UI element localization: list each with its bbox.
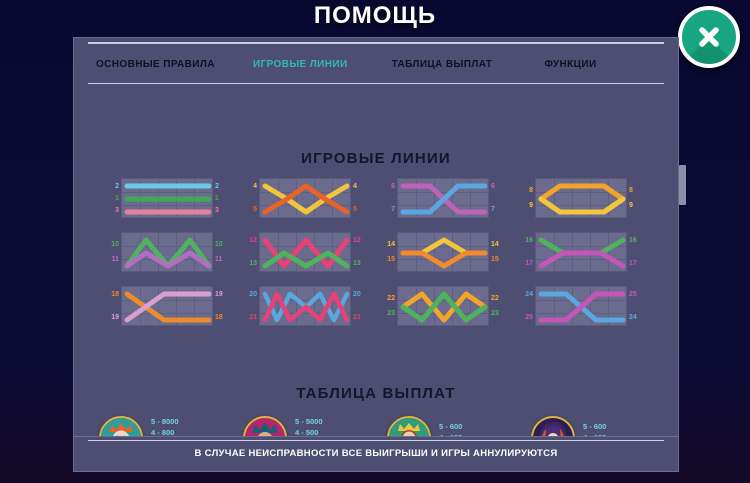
payline-label: 8 xyxy=(629,184,633,197)
payline-labels-left: 20 21 xyxy=(243,286,259,326)
close-button[interactable] xyxy=(678,6,740,68)
payout-row: 5 - 8000 xyxy=(151,417,179,427)
payline-label: 23 xyxy=(491,307,499,320)
tab-bar: ОСНОВНЫЕ ПРАВИЛА ИГРОВЫЕ ЛИНИИ ТАБЛИЦА В… xyxy=(88,48,664,81)
payline-group-16-17: 16 17 16 xyxy=(519,232,647,272)
payline-labels-right: 25 24 xyxy=(627,286,643,326)
paylines-row: 18 19 19 xyxy=(74,286,678,326)
payline-label: 24 xyxy=(525,288,533,301)
payline-group-20-21: 20 21 20 xyxy=(243,286,371,326)
payline-labels-left: 14 15 xyxy=(381,232,397,272)
paytable-heading: ТАБЛИЦА ВЫПЛАТ xyxy=(74,385,678,402)
payline-label: 25 xyxy=(629,288,637,301)
payline-label: 20 xyxy=(249,288,257,301)
payline-label: 6 xyxy=(391,180,395,193)
payline-grid xyxy=(397,178,489,218)
page-title: ПОМОЩЬ xyxy=(0,2,750,30)
payline-labels-right: 12 13 xyxy=(351,232,367,272)
payline-label: 12 xyxy=(353,234,361,247)
payline-labels-right: 16 17 xyxy=(627,232,643,272)
payline-label: 18 xyxy=(215,311,223,324)
payline-label: 14 xyxy=(387,238,395,251)
payline-labels-left: 18 19 xyxy=(105,286,121,326)
payline-labels-left: 10 11 xyxy=(105,232,121,272)
divider-top xyxy=(88,42,664,44)
payline-label: 7 xyxy=(391,203,395,216)
payline-label: 21 xyxy=(249,311,257,324)
payline-group-10-11: 10 11 10 xyxy=(105,232,233,272)
payline-label: 19 xyxy=(215,288,223,301)
payline-label: 17 xyxy=(629,257,637,270)
paylines-row: 2 1 3 xyxy=(74,178,678,218)
payline-group-12-13: 12 13 12 xyxy=(243,232,371,272)
payline-labels-right: 22 23 xyxy=(489,286,505,326)
payline-label: 1 xyxy=(115,192,119,204)
help-panel: ОСНОВНЫЕ ПРАВИЛА ИГРОВЫЕ ЛИНИИ ТАБЛИЦА В… xyxy=(74,38,678,471)
scrollbar-thumb[interactable] xyxy=(679,165,686,205)
payline-label: 7 xyxy=(491,203,495,216)
payline-label: 9 xyxy=(529,199,533,212)
payline-labels-left: 16 17 xyxy=(519,232,535,272)
payline-group-6-7: 6 7 6 xyxy=(381,178,509,218)
payline-label: 4 xyxy=(353,180,357,193)
payline-label: 10 xyxy=(111,238,119,251)
payline-label: 19 xyxy=(111,311,119,324)
payline-label: 9 xyxy=(629,199,633,212)
payline-labels-right: 4 5 xyxy=(351,178,367,218)
payline-label: 10 xyxy=(215,238,223,251)
payline-grid xyxy=(121,286,213,326)
footer-divider xyxy=(88,440,664,441)
payline-label: 5 xyxy=(253,203,257,216)
payline-label: 16 xyxy=(525,234,533,247)
close-button-wrap xyxy=(678,6,740,68)
payline-label: 1 xyxy=(215,192,219,204)
payline-label: 15 xyxy=(491,253,499,266)
payline-labels-right: 6 7 xyxy=(489,178,505,218)
payline-label: 15 xyxy=(387,253,395,266)
close-x-icon xyxy=(694,22,724,52)
payline-labels-right: 8 9 xyxy=(627,178,643,218)
payline-grid xyxy=(397,232,489,272)
payline-label: 4 xyxy=(253,180,257,193)
payline-label: 2 xyxy=(115,180,119,192)
payline-labels-left: 8 9 xyxy=(519,178,535,218)
payline-group-14-15: 14 15 14 xyxy=(381,232,509,272)
payline-group-8-9: 8 9 8 xyxy=(519,178,647,218)
payline-grid xyxy=(259,178,351,218)
payline-labels-right: 19 18 xyxy=(213,286,229,326)
payline-grid xyxy=(121,178,213,218)
payline-grid xyxy=(259,286,351,326)
payline-labels-right: 14 15 xyxy=(489,232,505,272)
payline-label: 20 xyxy=(353,288,361,301)
payline-label: 3 xyxy=(115,204,119,216)
payline-label: 6 xyxy=(491,180,495,193)
payline-labels-right: 20 21 xyxy=(351,286,367,326)
payout-row: 5 - 600 xyxy=(439,422,462,432)
payline-label: 11 xyxy=(112,253,119,266)
malfunction-notice: В СЛУЧАЕ НЕИСПРАВНОСТИ ВСЕ ВЫИГРЫШИ И ИГ… xyxy=(74,448,678,459)
payline-label: 17 xyxy=(525,257,533,270)
payline-label: 2 xyxy=(215,180,219,192)
payline-label: 23 xyxy=(387,307,395,320)
tab-paytable[interactable]: ТАБЛИЦА ВЫПЛАТ xyxy=(392,59,493,70)
payline-label: 3 xyxy=(215,204,219,216)
payline-grid xyxy=(397,286,489,326)
payline-group-24-25: 24 25 25 xyxy=(519,286,647,326)
help-screen: ПОМОЩЬ ОСНОВНЫЕ ПРАВИЛА ИГРОВЫЕ ЛИНИИ ТА… xyxy=(0,0,750,483)
paylines-heading: ИГРОВЫЕ ЛИНИИ xyxy=(74,150,678,167)
tab-features[interactable]: ФУНКЦИИ xyxy=(544,59,596,70)
payline-labels-left: 24 25 xyxy=(519,286,535,326)
payline-grid xyxy=(121,232,213,272)
payline-labels-right: 10 11 xyxy=(213,232,229,272)
payline-group-1-2-3: 2 1 3 xyxy=(105,178,233,218)
payline-label: 11 xyxy=(215,253,222,266)
paylines-area: 2 1 3 xyxy=(74,178,678,340)
tab-basic-rules[interactable]: ОСНОВНЫЕ ПРАВИЛА xyxy=(96,59,215,70)
payline-label: 22 xyxy=(491,292,499,305)
payline-grid xyxy=(535,232,627,272)
payline-label: 22 xyxy=(387,292,395,305)
payline-labels-left: 12 13 xyxy=(243,232,259,272)
payline-grid xyxy=(535,178,627,218)
payline-labels-left: 4 5 xyxy=(243,178,259,218)
payline-label: 25 xyxy=(525,311,533,324)
payline-label: 16 xyxy=(629,234,637,247)
payline-labels-right: 2 1 3 xyxy=(213,178,229,218)
footer-banner: В СЛУЧАЕ НЕИСПРАВНОСТИ ВСЕ ВЫИГРЫШИ И ИГ… xyxy=(74,437,678,471)
payline-label: 12 xyxy=(249,234,257,247)
payline-grid xyxy=(535,286,627,326)
payline-label: 18 xyxy=(111,288,119,301)
payline-labels-left: 22 23 xyxy=(381,286,397,326)
payline-group-18-19: 18 19 19 xyxy=(105,286,233,326)
payline-group-22-23: 22 23 22 xyxy=(381,286,509,326)
payline-label: 13 xyxy=(249,257,257,270)
divider-under-tabs xyxy=(88,83,664,84)
payline-labels-left: 6 7 xyxy=(381,178,397,218)
payline-label: 8 xyxy=(529,184,533,197)
payline-label: 24 xyxy=(629,311,637,324)
tab-paylines[interactable]: ИГРОВЫЕ ЛИНИИ xyxy=(253,59,348,70)
payline-labels-left: 2 1 3 xyxy=(105,178,121,218)
payline-label: 13 xyxy=(353,257,361,270)
payout-row: 5 - 5000 xyxy=(295,417,323,427)
payout-row: 5 - 600 xyxy=(583,422,606,432)
payline-label: 14 xyxy=(491,238,499,251)
paylines-row: 10 11 10 xyxy=(74,232,678,272)
payline-group-4-5: 4 5 4 xyxy=(243,178,371,218)
payline-label: 21 xyxy=(353,311,361,324)
payline-grid xyxy=(259,232,351,272)
payline-label: 5 xyxy=(353,203,357,216)
